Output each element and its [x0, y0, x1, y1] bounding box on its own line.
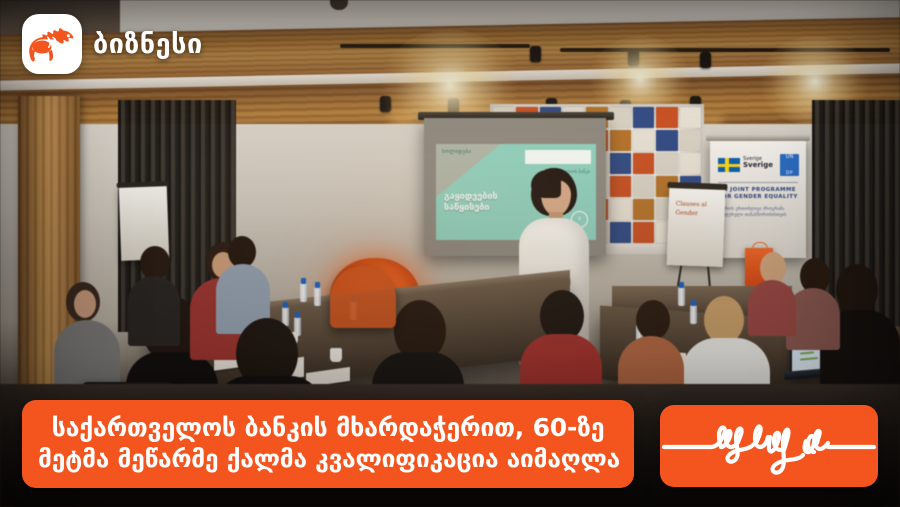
certificate-frame	[633, 176, 654, 197]
spotlight-fixture-3	[700, 52, 711, 68]
headline-line-2: მეტმა მეწარმე ქალმა კვალიფიკაცია აიმაღლა	[38, 443, 618, 474]
water-bottle	[690, 300, 697, 324]
presenter-hair-front	[531, 170, 561, 198]
certificate-frame	[610, 130, 631, 151]
rollup-headline-line1: UN JOINT PROGRAMME	[718, 187, 800, 194]
rollup-headline-line2: FOR GENDER EQUALITY	[718, 194, 800, 201]
slide-brand-label: სოლიდება	[442, 149, 471, 155]
headline-line-1: საქართველოს ბანკის მხარდაჭერით, 60-ზე	[38, 412, 618, 443]
brand-lockup: ბიზნესი	[22, 14, 203, 74]
undp-dp: DP	[780, 170, 799, 177]
screenshot-root: სოლიდება საქართველოს ბანკი გაყიდვების სა…	[0, 0, 900, 507]
bank-of-georgia-logo	[22, 14, 82, 74]
certificate-frame	[610, 222, 631, 243]
undp-un: UN	[786, 154, 793, 160]
headline-banner: საქართველოს ბანკის მხარდაჭერით, 60-ზე მე…	[22, 400, 634, 488]
spotlight-fixture-8	[380, 96, 391, 112]
certificate-frame	[610, 199, 631, 220]
bank-of-georgia-lion-icon	[29, 24, 75, 64]
flipchart-right: Clauses al Gender	[667, 187, 726, 267]
spotlight-fixture-2	[628, 50, 639, 66]
certificate-frame	[680, 153, 701, 174]
certificate-frame	[656, 130, 677, 151]
rollup-georgian-text: გაეროს ერთობლივი პროგრამა გენდერული თანა…	[718, 206, 800, 217]
sweden-label: Sverige	[743, 161, 773, 169]
handwritten-georgian-signature-logo	[660, 405, 878, 487]
flipchart-writing-line2: Gender	[675, 208, 706, 218]
sweden-flag-icon	[718, 158, 740, 172]
flipchart-right-rail	[667, 182, 727, 190]
certificate-frame	[633, 107, 654, 128]
certificate-frame	[633, 222, 654, 243]
signature-logo-badge	[660, 405, 878, 487]
certificate-frame	[656, 107, 677, 128]
brand-label: ბიზნესი	[93, 29, 203, 60]
water-bottle	[678, 282, 685, 306]
rollup-georgian-line2: გენდერული თანასწორობისთვის	[718, 212, 800, 218]
flipchart-left-rail	[117, 181, 169, 188]
rollup-headline: UN JOINT PROGRAMME FOR GENDER EQUALITY	[718, 187, 800, 201]
water-bottle	[314, 282, 321, 306]
certificate-frame	[680, 130, 701, 151]
slide-partner-logos	[525, 150, 591, 164]
certificate-frame	[633, 130, 654, 151]
rollup-divider	[718, 182, 798, 183]
certificate-frame	[680, 107, 701, 128]
spotlight-fixture-1	[530, 46, 541, 62]
orange-chair	[330, 266, 396, 328]
certificate-frame	[610, 176, 631, 197]
certificate-frame	[633, 153, 654, 174]
light-track-2	[560, 48, 890, 52]
rollup-banner-top-rail	[706, 135, 810, 141]
certificate-frame	[633, 199, 654, 220]
light-track-1	[340, 44, 530, 48]
certificate-frame	[610, 153, 631, 174]
coffee-cup	[330, 348, 342, 362]
water-bottle	[300, 278, 307, 302]
undp-logo: UN DP	[780, 154, 799, 176]
flipchart-writing: Clauses al Gender	[675, 199, 707, 218]
certificate-frame	[656, 153, 677, 174]
sweden-wordmark: Sverige Sverige	[743, 156, 773, 169]
